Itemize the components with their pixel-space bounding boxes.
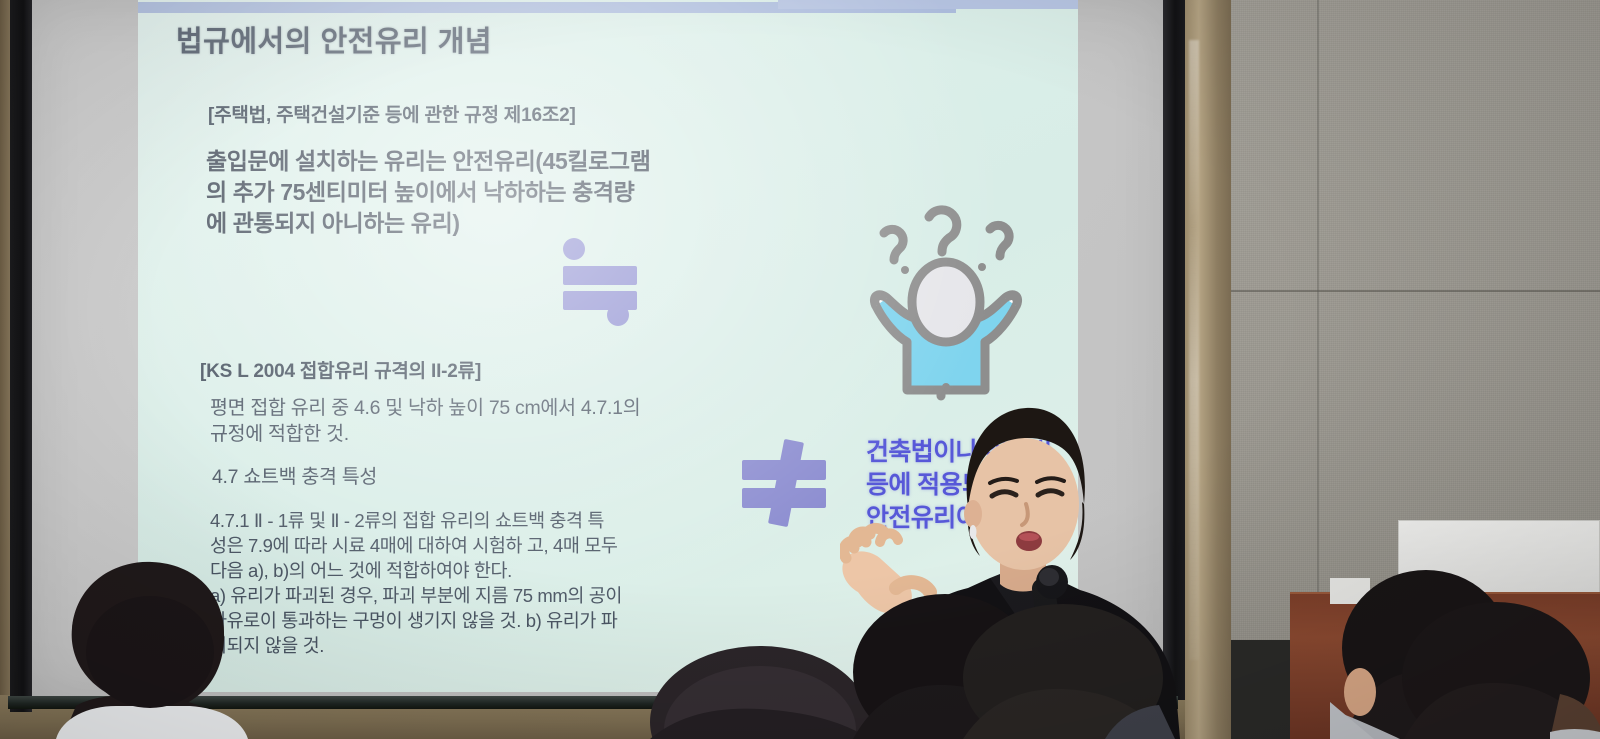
not-equal-symbol-icon: [738, 440, 830, 526]
section2-body: 평면 접합 유리 중 4.6 및 낙하 높이 75 cm에서 4.7.1의 규정…: [210, 395, 640, 447]
section1-body: 출입문에 설치하는 유리는 안전유리(45킬로그램 의 추가 75센티미터 높이…: [206, 146, 650, 239]
clause-line-4: a) 유리가 파괴된 경우, 파괴 부분에 지름 75 mm의 공이: [210, 583, 622, 608]
slide-top-accent-bar-secondary: [778, 0, 1078, 9]
section2-clause-body: 4.7.1 Ⅱ - 1류 및 Ⅱ - 2류의 접합 유리의 쇼트백 충격 특 성…: [210, 508, 622, 658]
fabric-wall-seam-horizontal: [1231, 290, 1600, 292]
section1-body-line-2: 의 추가 75센티미터 높이에서 낙하하는 충격량: [206, 177, 650, 208]
not-equal-slash: [768, 439, 804, 527]
presentation-photo-scene: 법규에서의 안전유리 개념 [주택법, 주택건설기준 등에 관한 규정 제16조…: [0, 0, 1600, 739]
slide-title: 법규에서의 안전유리 개념: [176, 18, 492, 60]
divide-bar-upper: [563, 266, 637, 285]
divide-dot-top: [563, 238, 585, 260]
section1-body-line-3: 에 관통되지 아니하는 유리): [206, 208, 650, 239]
audience-head-2: [640, 644, 880, 739]
fabric-wall-seam-vertical: [1317, 0, 1319, 640]
section1-body-line-1: 출입문에 설치하는 유리는 안전유리(45킬로그램: [206, 146, 650, 177]
divide-dot-bottom: [607, 304, 629, 326]
audience-head-4: [955, 600, 1175, 739]
confused-person-illustration: [843, 190, 1053, 405]
section2-body-line-1: 평면 접합 유리 중 4.6 및 낙하 높이 75 cm에서 4.7.1의: [210, 395, 640, 421]
section1-bracket-heading: [주택법, 주택건설기준 등에 관한 규정 제16조2]: [208, 100, 576, 127]
audience-head-1: [40, 556, 260, 739]
clause-line-5: 자유로이 통과하는 구멍이 생기지 않을 것. b) 유리가 파: [210, 608, 622, 633]
clause-line-1: 4.7.1 Ⅱ - 1류 및 Ⅱ - 2류의 접합 유리의 쇼트백 충격 특: [210, 508, 622, 533]
divide-symbol-icon: [551, 238, 641, 326]
screen-frame-left-edge: [10, 0, 32, 712]
audience-head-6: [1400, 594, 1600, 739]
clause-line-3: 다음 a), b)의 어느 것에 적합하여야 한다.: [210, 558, 622, 583]
clause-line-2: 성은 7.9에 따라 시료 4매에 대하여 시험하 고, 4매 모두: [210, 533, 622, 558]
section2-bracket-heading: [KS L 2004 접합유리 규격의 II-2류]: [200, 356, 481, 383]
clause-line-6: 괴되지 않을 것.: [210, 633, 622, 658]
section2-body-line-2: 규정에 적합한 것.: [210, 421, 640, 447]
section2-clause-heading: 4.7 쇼트백 충격 특성: [212, 464, 377, 490]
